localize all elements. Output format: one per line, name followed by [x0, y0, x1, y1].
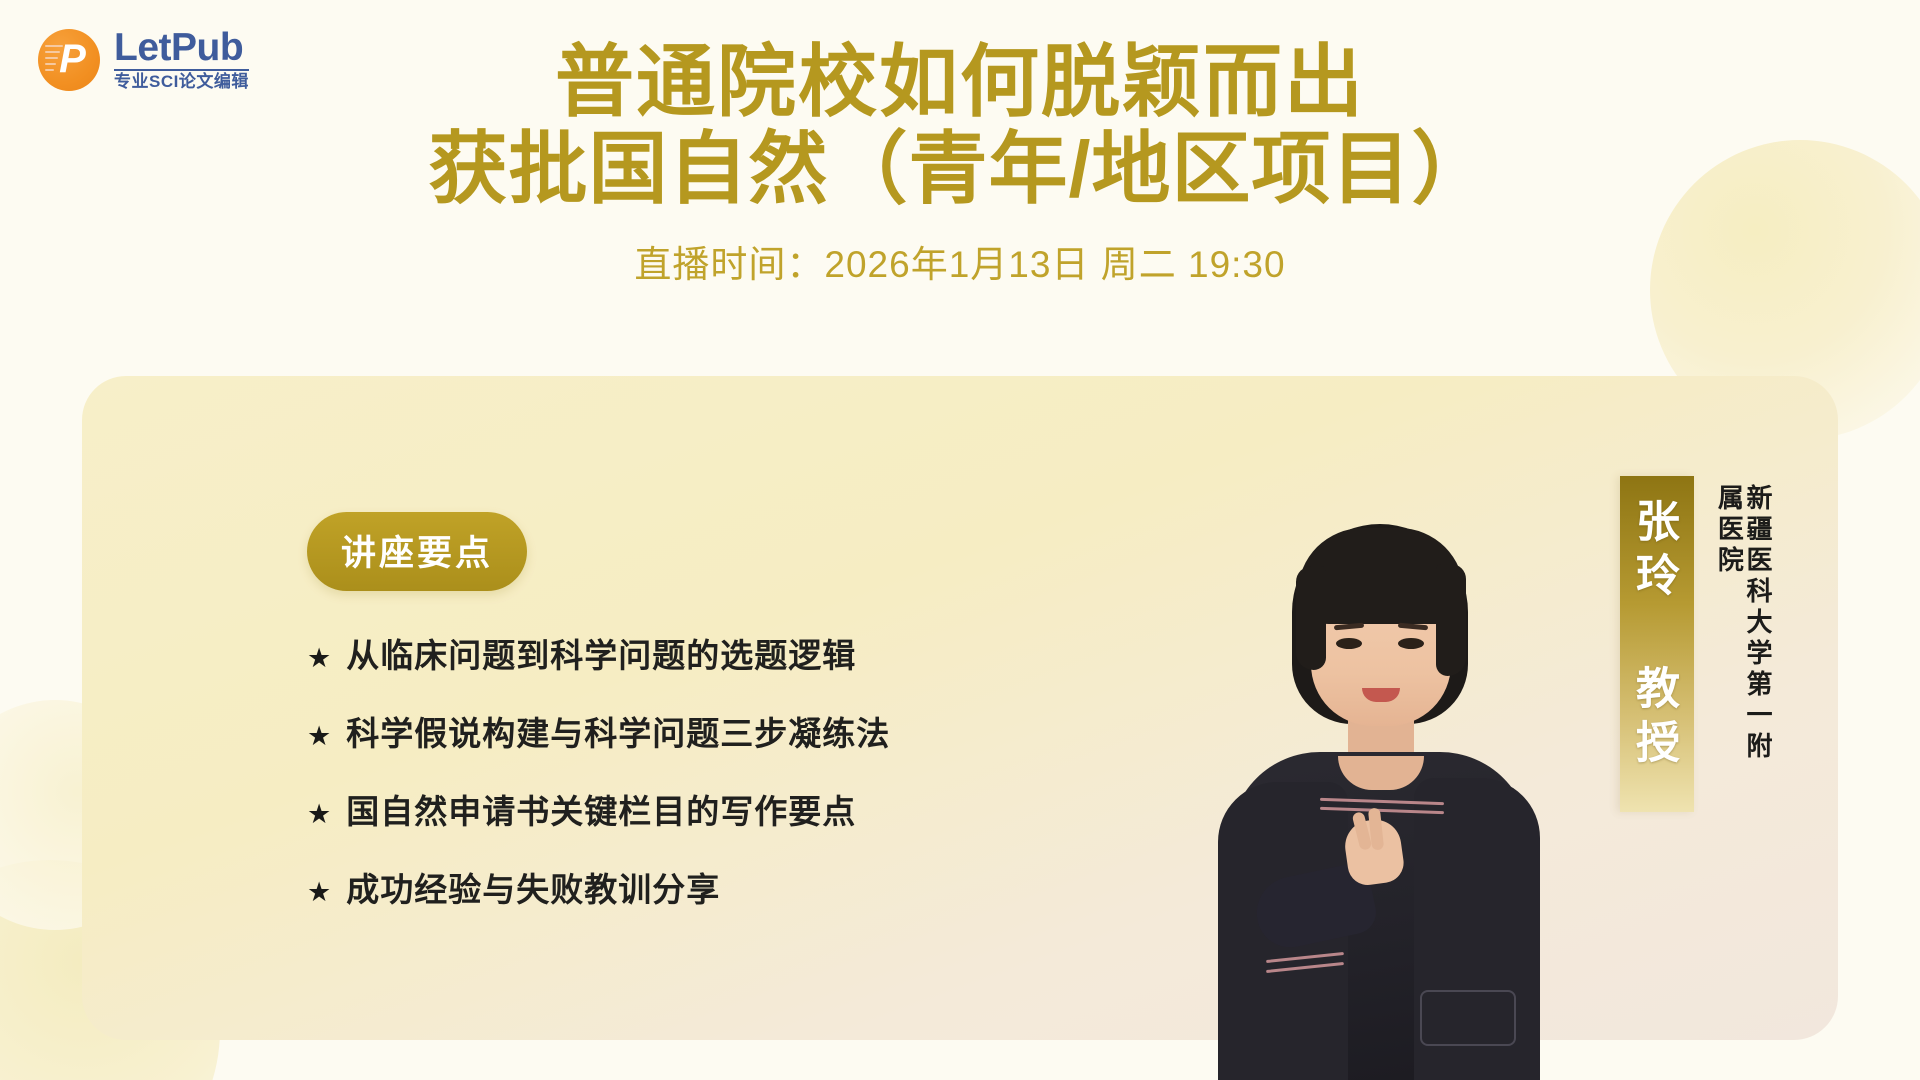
star-icon: ★: [307, 801, 332, 828]
portrait-eye-right: [1398, 638, 1424, 649]
logo-divider: [114, 69, 249, 71]
letpub-logo-mark: P: [38, 29, 100, 91]
logo-letter: P: [38, 29, 100, 91]
star-icon: ★: [307, 879, 332, 906]
list-item: ★ 国自然申请书关键栏目的写作要点: [307, 785, 1207, 833]
brand-name: LetPub: [114, 28, 249, 67]
page-title-line-2: 获批国自然（青年/地区项目）: [0, 129, 1920, 208]
portrait-pocket: [1420, 990, 1516, 1046]
list-item-label: 科学假说构建与科学问题三步凝练法: [346, 707, 890, 755]
list-item-label: 成功经验与失败教训分享: [346, 863, 720, 911]
speaker-name-banner: 张玲 教授: [1620, 476, 1694, 812]
portrait-eye-left: [1336, 638, 1362, 649]
section-badge-lecture-points: 讲座要点: [307, 512, 527, 591]
list-item: ★ 成功经验与失败教训分享: [307, 863, 1207, 911]
list-item: ★ 从临床问题到科学问题的选题逻辑: [307, 629, 1207, 677]
lecture-points-list: ★ 从临床问题到科学问题的选题逻辑 ★ 科学假说构建与科学问题三步凝练法 ★ 国…: [307, 629, 1207, 941]
star-icon: ★: [307, 723, 332, 750]
banner-header: 普通院校如何脱颖而出 获批国自然（青年/地区项目） 直播时间：2026年1月13…: [0, 0, 1920, 288]
portrait-hair-left: [1296, 566, 1326, 670]
star-icon: ★: [307, 645, 332, 672]
brand-tagline: 专业SCI论文编辑: [114, 73, 249, 92]
page-title-line-1: 普通院校如何脱颖而出: [0, 42, 1920, 121]
speaker-portrait: [1170, 520, 1590, 1080]
list-item: ★ 科学假说构建与科学问题三步凝练法: [307, 707, 1207, 755]
speaker-affiliation: 新疆医科大学第一附属医院: [1715, 484, 1772, 784]
broadcast-time: 直播时间：2026年1月13日 周二 19:30: [0, 234, 1920, 288]
list-item-label: 国自然申请书关键栏目的写作要点: [346, 785, 856, 833]
letpub-logo[interactable]: P LetPub 专业SCI论文编辑: [38, 28, 249, 92]
logo-wordmark: LetPub 专业SCI论文编辑: [114, 28, 249, 92]
portrait-hair-right: [1436, 564, 1466, 676]
speaker-name-label: 张玲 教授: [1629, 498, 1685, 773]
list-item-label: 从临床问题到科学问题的选题逻辑: [346, 629, 856, 677]
